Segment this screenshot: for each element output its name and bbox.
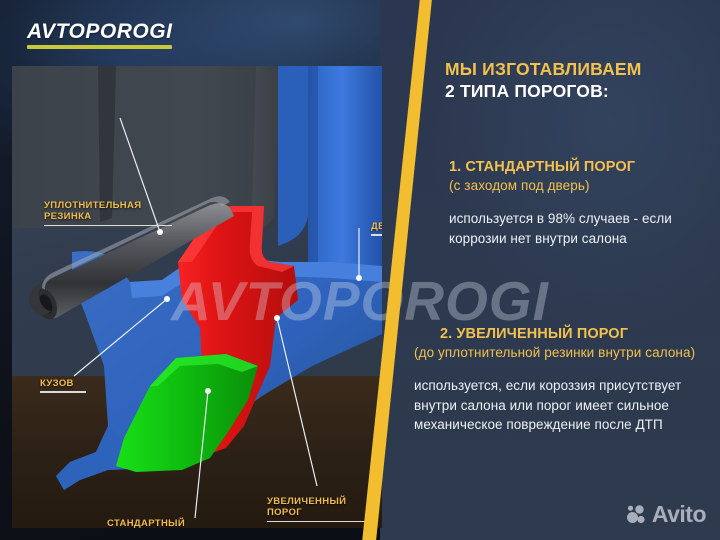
label-gasket-text: УПЛОТНИТЕЛЬНАЯ РЕЗИНКА [44,200,141,223]
label-gasket-underline [44,225,172,227]
sill-cross-section-diagram [12,66,382,528]
brand-logo: AVTOPOROGI [27,21,172,49]
label-enlarged-sill: УВЕЛИЧЕННЫЙ ПОРОГ [267,484,369,528]
sill-illustration-panel: УПЛОТНИТЕЛЬНАЯ РЕЗИНКА КУЗОВ ДВЕРЬ СТАНД… [12,66,382,528]
header-line-1: МЫ ИЗГОТАВЛИВАЕМ [445,58,710,80]
section-enlarged-body: используется, если короззия присутствует… [408,376,700,435]
label-door-underline [371,234,382,236]
screenshot-root: AVTOPOROGI [0,0,720,540]
label-body-underline [40,391,86,393]
section-standard: 1. СТАНДАРТНЫЙ ПОРОГ (с заходом под двер… [449,158,711,248]
header-line-2: 2 ТИПА ПОРОГОВ: [445,80,710,102]
label-standard-sill-text: СТАНДАРТНЫЙ ПОРОГ [107,518,185,529]
label-door-text: ДВЕРЬ [371,221,382,232]
section-standard-title: 1. СТАНДАРТНЫЙ ПОРОГ [449,158,711,177]
avito-watermark: Avito [626,503,706,526]
text-column: МЫ ИЗГОТАВЛИВАЕМ 2 ТИПА ПОРОГОВ: 1. СТАН… [403,0,708,540]
label-enlarged-sill-underline [267,521,369,523]
section-enlarged-subtitle: (до уплотнительной резинки внутри салона… [408,344,700,362]
avito-label: Avito [652,503,706,526]
label-door: ДВЕРЬ [371,209,382,247]
label-standard-sill: СТАНДАРТНЫЙ ПОРОГ [99,506,193,528]
label-gasket: УПЛОТНИТЕЛЬНАЯ РЕЗИНКА [44,188,172,238]
label-body: КУЗОВ [40,366,86,404]
label-enlarged-sill-text: УВЕЛИЧЕННЫЙ ПОРОГ [267,496,346,519]
brand-logo-text: AVTOPOROGI [27,21,172,42]
section-enlarged: 2. УВЕЛИЧЕННЫЙ ПОРОГ (до уплотнительной … [408,325,700,435]
header-block: МЫ ИЗГОТАВЛИВАЕМ 2 ТИПА ПОРОГОВ: [445,58,710,102]
section-standard-body: используется в 98% случаев - если корроз… [449,209,711,248]
brand-logo-underline [27,45,172,49]
avito-dots-icon [626,504,648,526]
section-standard-subtitle: (с заходом под дверь) [449,177,711,195]
label-body-text: КУЗОВ [40,378,74,389]
section-enlarged-title: 2. УВЕЛИЧЕННЫЙ ПОРОГ [408,325,700,344]
